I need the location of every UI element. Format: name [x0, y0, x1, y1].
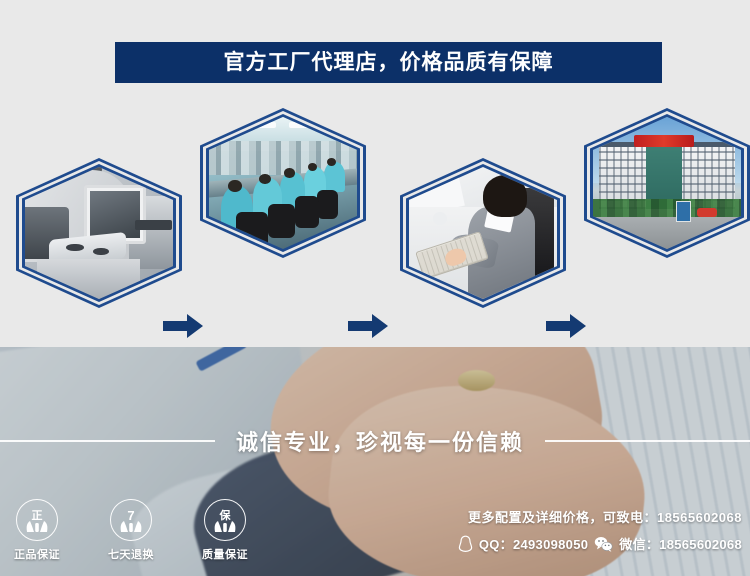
worker-head [327, 158, 336, 166]
top-section: 官方工厂代理店，价格品质有保障 [0, 0, 750, 347]
ceiling-lamp [218, 122, 240, 127]
worker-head [228, 180, 241, 192]
wechat-icon [594, 536, 613, 552]
badge-seven-day-return-label: 七天退换 [108, 546, 154, 562]
svg-text:正: 正 [32, 509, 43, 522]
worker-chair [295, 196, 319, 228]
contact-block: 更多配置及详细价格，可致电：18565602068 QQ：2493098050 [322, 507, 742, 553]
factory-worker [324, 162, 345, 192]
badge-seven-day-return: 7 七天退换 [102, 499, 160, 562]
slogan-rule-right [545, 440, 750, 442]
process-step-4 [584, 108, 750, 258]
badge-authentic-label: 正品保证 [14, 546, 60, 562]
badge-quality: 保 质量保证 [196, 499, 254, 562]
worker-head [284, 168, 294, 177]
title-banner: 官方工厂代理店，价格品质有保障 [115, 42, 662, 83]
arrow-1 [163, 312, 203, 340]
title-banner-text: 官方工厂代理店，价格品质有保障 [224, 52, 554, 73]
process-step-1 [16, 158, 182, 308]
arrow-3 [546, 312, 586, 340]
wechat-number: 微信：18565602068 [619, 534, 742, 553]
slogan-rule-left [0, 440, 215, 442]
slogan-row: 诚信专业，珍视每一份信赖 [0, 421, 750, 461]
bottom-section: 诚信专业，珍视每一份信赖 正 正品保证 7 [0, 347, 750, 576]
contact-im-line: QQ：2493098050 微信：18565602068 [322, 534, 742, 553]
slogan-text: 诚信专业，珍视每一份信赖 [215, 425, 545, 457]
contact-phone-line: 更多配置及详细价格，可致电：18565602068 [322, 507, 742, 526]
qq-penguin-icon [458, 535, 473, 553]
badge-authentic: 正 正品保证 [8, 499, 66, 562]
guarantee-badges: 正 正品保证 7 七天退换 [8, 499, 254, 562]
worker-chair [317, 190, 338, 219]
promo-page: 官方工厂代理店，价格品质有保障 [0, 0, 750, 576]
process-chain [0, 100, 750, 330]
process-step-2 [200, 108, 366, 258]
qq-number: QQ：2493098050 [479, 534, 588, 553]
parked-car [697, 208, 718, 217]
worker-chair [268, 204, 295, 238]
hands-holding-zheng-icon: 正 [16, 499, 58, 541]
svg-text:保: 保 [219, 508, 232, 522]
ceiling-lamp [321, 122, 343, 127]
machine-screen [90, 191, 140, 238]
roadside-kiosk [676, 201, 691, 221]
hands-holding-seven-icon: 7 [110, 499, 152, 541]
building-red-sign [634, 135, 693, 147]
process-step-3 [400, 158, 566, 308]
svg-text:7: 7 [127, 508, 134, 523]
hands-holding-bao-icon: 保 [204, 499, 246, 541]
arrow-2 [348, 312, 388, 340]
badge-quality-label: 质量保证 [202, 546, 248, 562]
machine-keyboard [135, 220, 172, 231]
trees [593, 199, 741, 217]
